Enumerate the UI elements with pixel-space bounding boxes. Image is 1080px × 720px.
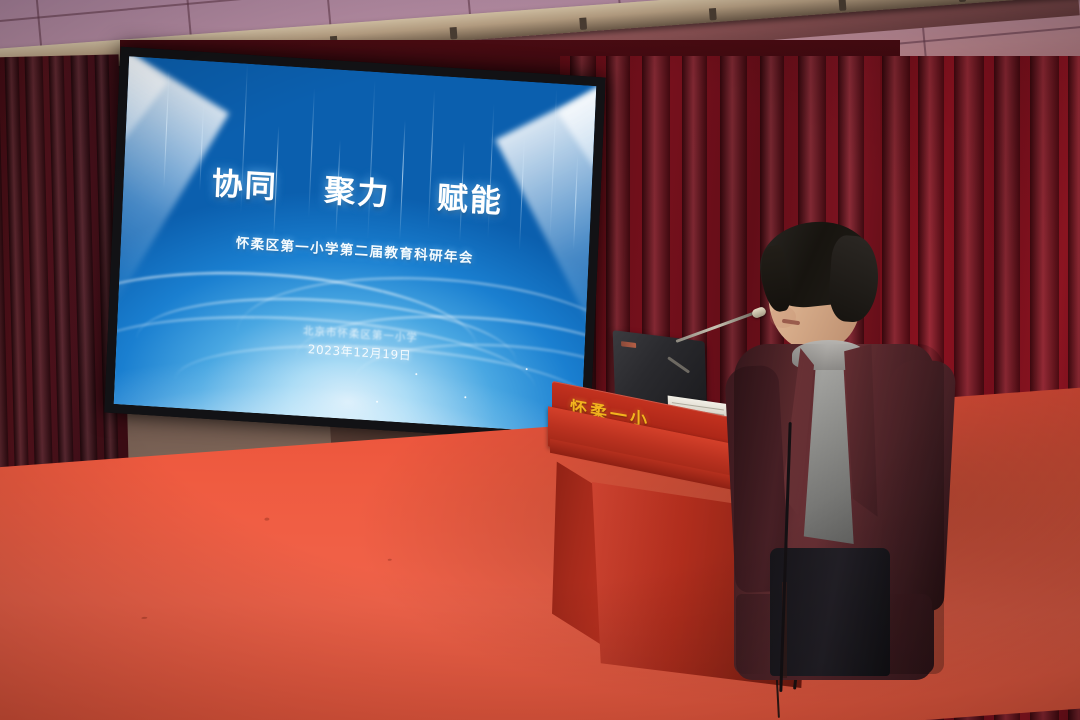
laptop-logo-icon xyxy=(621,341,636,348)
hair-back xyxy=(827,234,881,323)
screen-title-word-1: 协同 xyxy=(211,166,278,206)
led-screen: 协同 聚力 赋能 怀柔区第一小学第二届教育科研年会 北京市怀柔区第一小学 xyxy=(114,56,597,433)
legs xyxy=(770,548,890,676)
speaker-person xyxy=(726,222,956,720)
led-screen-frame: 协同 聚力 赋能 怀柔区第一小学第二届教育科研年会 北京市怀柔区第一小学 xyxy=(104,47,605,444)
screen-title-word-3: 赋能 xyxy=(436,180,503,220)
screen-title-word-2: 聚力 xyxy=(324,173,391,213)
auditorium-scene: 协同 聚力 赋能 怀柔区第一小学第二届教育科研年会 北京市怀柔区第一小学 xyxy=(0,0,1080,720)
